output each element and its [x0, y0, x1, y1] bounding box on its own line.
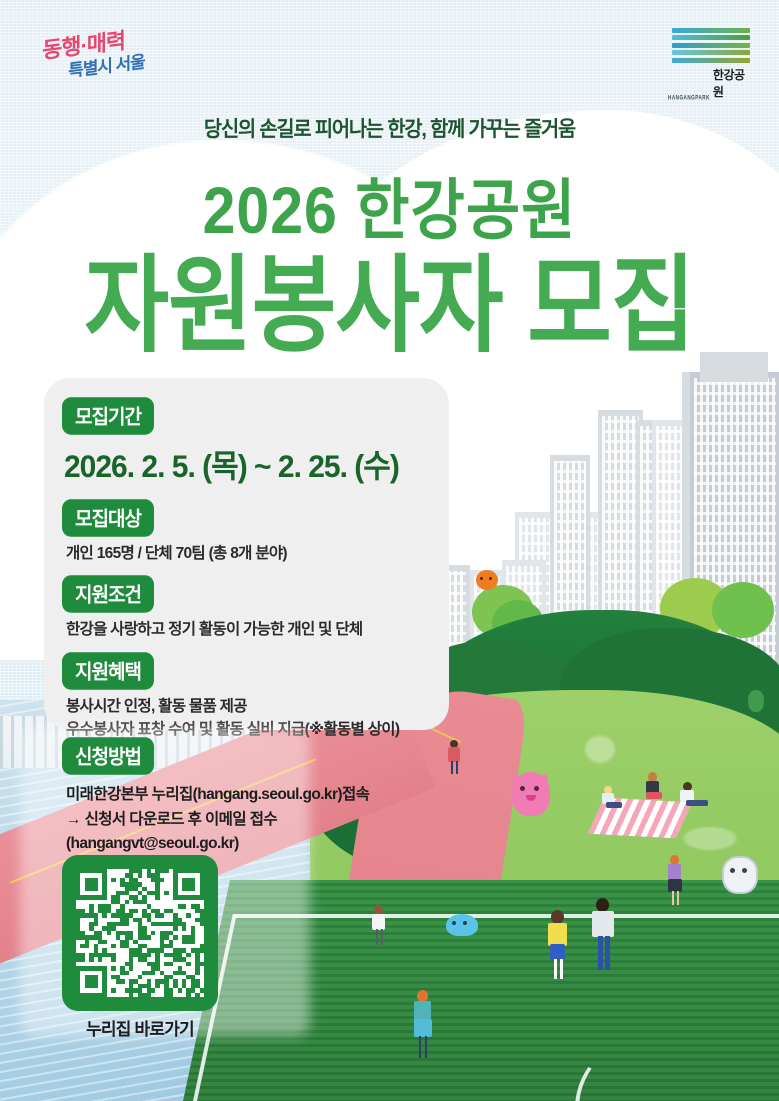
tree-canopy-e: [712, 582, 774, 638]
badge-recruitment-target: 모집대상: [62, 499, 154, 536]
mascot-green-character: [748, 690, 764, 712]
apply-method-line1: 미래한강본부 누리집(hangang.seoul.go.kr)접속: [66, 783, 492, 806]
apply-method-section: 신청방법 미래한강본부 누리집(hangang.seoul.go.kr)접속 →…: [62, 738, 492, 855]
apply-method-line2: → 신청서 다운로드 후 이메일 접수: [66, 808, 492, 831]
poster-title-line2: 자원봉사자 모집: [0, 220, 779, 373]
support-benefits-line1: 봉사시간 인정, 활동 물품 제공: [66, 696, 482, 718]
hangang-logo-bars: [672, 28, 750, 64]
qr-code-matrix: [76, 869, 204, 997]
qr-code-label: 누리집 바로가기: [30, 1015, 250, 1040]
qr-code[interactable]: [62, 855, 218, 1011]
info-section-target: 모집대상 개인 165명 / 단체 70팀 (총 8개 분야): [62, 500, 482, 565]
hangang-logo-korean: 한강공원: [713, 66, 754, 100]
badge-support-benefits: 지원혜택: [62, 652, 154, 689]
recruitment-target-value: 개인 165명 / 단체 70팀 (총 8개 분야): [66, 543, 482, 565]
application-conditions-value: 한강을 사랑하고 정기 활동이 가능한 개인 및 단체: [66, 619, 482, 641]
info-sections: 모집기간 2026. 2. 5. (목) ~ 2. 25. (수) 모집대상 개…: [62, 398, 482, 742]
info-section-conditions: 지원조건 한강을 사랑하고 정기 활동이 가능한 개인 및 단체: [62, 576, 482, 641]
info-section-recruitment-period: 모집기간 2026. 2. 5. (목) ~ 2. 25. (수): [62, 398, 482, 485]
seoul-brand-logo: 동행·매력 특별시 서울: [34, 26, 164, 88]
poster-root: 동행·매력 특별시 서울 HANGANGPARK 한강공원 당신의 손길로 피어…: [0, 0, 779, 1101]
hangang-logo-text: HANGANGPARK 한강공원: [668, 66, 754, 100]
mascot-pink-character: [512, 772, 550, 816]
hangang-park-logo: HANGANGPARK 한강공원: [668, 28, 754, 90]
recruitment-period-value: 2026. 2. 5. (목) ~ 2. 25. (수): [64, 440, 482, 487]
hangang-logo-english: HANGANGPARK: [668, 94, 710, 101]
badge-application-conditions: 지원조건: [62, 576, 154, 613]
badge-recruitment-period: 모집기간: [62, 397, 154, 434]
poster-tagline: 당신의 손길로 피어나는 한강, 함께 가꾸는 즐거움: [23, 113, 755, 143]
badge-apply-method: 신청방법: [62, 737, 154, 774]
mascot-blue-character: [446, 914, 478, 936]
mascot-white-character: [722, 856, 758, 894]
apply-method-line3: (hangangvt@seoul.go.kr): [66, 832, 492, 855]
